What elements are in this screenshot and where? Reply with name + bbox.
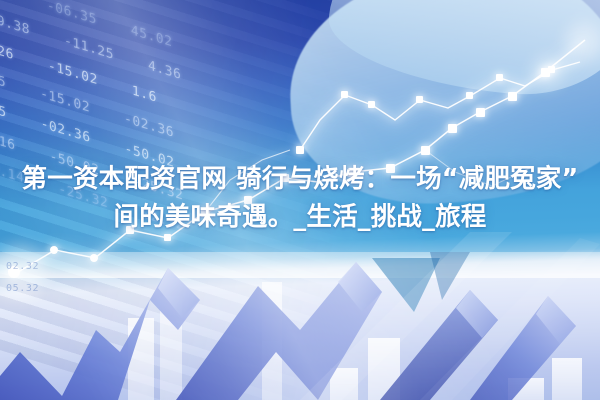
- banner-image: 21.5-05.02-06.3545.02-06.02-09.38-11.254…: [0, 0, 600, 400]
- diagonal-light-sheen: [0, 0, 600, 400]
